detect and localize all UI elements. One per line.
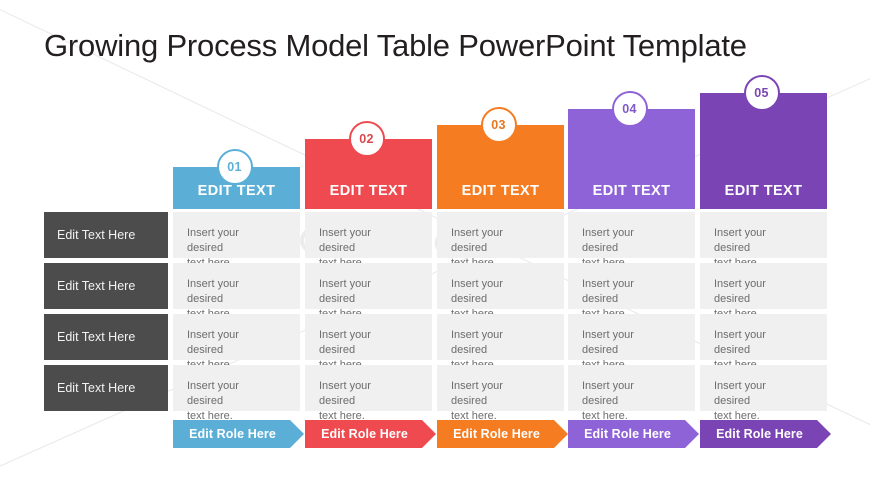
step-number-text: 04 [622,102,637,116]
table-cell[interactable]: Insert your desired text here. [700,314,827,360]
table-cell[interactable]: Insert your desired text here. [305,212,432,258]
row-label-text: Edit Text Here [57,381,135,395]
table-cell[interactable]: Insert your desired text here. [568,212,695,258]
table-cell-text: Insert your desired text here. [187,379,275,424]
table-cell[interactable]: Insert your desired text here. [173,212,300,258]
table-cell[interactable]: Insert your desired text here. [568,365,695,411]
role-arrow-02[interactable]: Edit Role Here [305,420,436,448]
column-header-label: EDIT TEXT [330,183,408,199]
column-header-label: EDIT TEXT [198,183,276,199]
row-label-text: Edit Text Here [57,330,135,344]
table-cell[interactable]: Insert your desired text here. [437,365,564,411]
row-label[interactable]: Edit Text Here [44,212,168,258]
role-arrow-04[interactable]: Edit Role Here [568,420,699,448]
step-number-badge-02[interactable]: 02 [349,121,385,157]
table-cell[interactable]: Insert your desired text here. [700,212,827,258]
role-arrow-05[interactable]: Edit Role Here [700,420,831,448]
role-arrow-label: Edit Role Here [584,427,671,441]
table-cell[interactable]: Insert your desired text here. [568,263,695,309]
table-cell-text: Insert your desired text here. [451,379,539,424]
table-cell[interactable]: Insert your desired text here. [305,365,432,411]
step-number-text: 05 [754,86,769,100]
table-cell[interactable]: Insert your desired text here. [305,314,432,360]
step-number-text: 03 [491,118,506,132]
role-arrow-label: Edit Role Here [189,427,276,441]
role-arrow-label: Edit Role Here [453,427,540,441]
role-arrow-label: Edit Role Here [716,427,803,441]
row-label-text: Edit Text Here [57,228,135,242]
table-cell[interactable]: Insert your desired text here. [700,365,827,411]
role-arrow-03[interactable]: Edit Role Here [437,420,568,448]
column-header-label: EDIT TEXT [593,183,671,199]
row-label-text: Edit Text Here [57,279,135,293]
column-header-label: EDIT TEXT [725,183,803,199]
table-cell[interactable]: Insert your desired text here. [568,314,695,360]
step-number-text: 01 [227,160,242,174]
table-cell[interactable]: Insert your desired text here. [305,263,432,309]
slide-canvas: Growing Process Model Table PowerPoint T… [0,0,870,489]
row-label[interactable]: Edit Text Here [44,314,168,360]
row-label[interactable]: Edit Text Here [44,365,168,411]
table-cell-text: Insert your desired text here. [319,379,407,424]
role-arrow-label: Edit Role Here [321,427,408,441]
table-cell[interactable]: Insert your desired text here. [437,263,564,309]
role-arrow-01[interactable]: Edit Role Here [173,420,304,448]
step-number-badge-05[interactable]: 05 [744,75,780,111]
step-number-text: 02 [359,132,374,146]
table-cell-text: Insert your desired text here. [582,379,670,424]
table-cell[interactable]: Insert your desired text here. [173,365,300,411]
column-header-label: EDIT TEXT [462,183,540,199]
step-number-badge-01[interactable]: 01 [217,149,253,185]
row-label[interactable]: Edit Text Here [44,263,168,309]
table-cell[interactable]: Insert your desired text here. [173,263,300,309]
table-cell[interactable]: Insert your desired text here. [173,314,300,360]
growing-process-table: EDIT TEXT01EDIT TEXT02EDIT TEXT03EDIT TE… [0,0,870,489]
step-number-badge-03[interactable]: 03 [481,107,517,143]
table-cell[interactable]: Insert your desired text here. [437,314,564,360]
step-number-badge-04[interactable]: 04 [612,91,648,127]
table-cell[interactable]: Insert your desired text here. [437,212,564,258]
table-cell[interactable]: Insert your desired text here. [700,263,827,309]
table-cell-text: Insert your desired text here. [714,379,802,424]
